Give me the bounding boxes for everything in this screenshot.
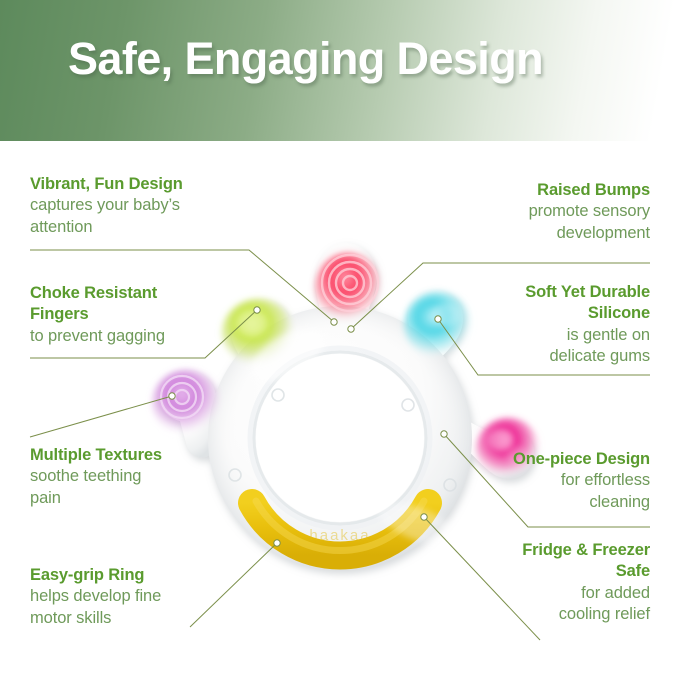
callout-title: Easy-grip Ring <box>30 565 245 586</box>
callout-line-1: promote sensory <box>420 201 650 222</box>
callout-one-piece-design: One-piece Design for effortless cleaning <box>420 449 650 513</box>
callout-soft-yet-durable-silicone: Soft Yet Durable Silicone is gentle on d… <box>420 282 650 368</box>
callout-line-1: is gentle on <box>420 325 650 346</box>
callout-line-2: cleaning <box>420 492 650 513</box>
callout-multiple-textures: Multiple Textures soothe teething pain <box>30 445 245 509</box>
callout-title: Vibrant, Fun Design <box>30 174 245 195</box>
callout-line-1: for effortless <box>420 470 650 491</box>
callout-title-line-1: Choke Resistant <box>30 283 245 304</box>
callout-line-1: for added <box>420 583 650 604</box>
infographic-page: Safe, Engaging Design <box>0 0 679 679</box>
nub-red <box>315 253 381 325</box>
callout-choke-resistant-fingers: Choke Resistant Fingers to prevent gaggi… <box>30 283 245 347</box>
callout-title-line-2: Silicone <box>420 303 650 324</box>
callout-title: Raised Bumps <box>420 180 650 201</box>
callout-title-line-1: Fridge & Freezer <box>420 540 650 561</box>
callout-fridge-freezer-safe: Fridge & Freezer Safe for added cooling … <box>420 540 650 626</box>
callout-raised-bumps: Raised Bumps promote sensory development <box>420 180 650 244</box>
nub-purple <box>152 370 220 436</box>
callout-title: One-piece Design <box>420 449 650 470</box>
callout-easy-grip-ring: Easy-grip Ring helps develop fine motor … <box>30 565 245 629</box>
callout-line-2: development <box>420 223 650 244</box>
callout-line-2: cooling relief <box>420 604 650 625</box>
callout-line-2: motor skills <box>30 608 245 629</box>
callout-line-1: helps develop fine <box>30 586 245 607</box>
callout-line-1: captures your baby’s <box>30 195 245 216</box>
page-title: Safe, Engaging Design <box>68 33 543 85</box>
header-banner: Safe, Engaging Design <box>0 0 679 141</box>
callout-title-line-1: Soft Yet Durable <box>420 282 650 303</box>
callout-line-1: to prevent gagging <box>30 326 245 347</box>
svg-text:haakaa: haakaa <box>309 527 370 544</box>
callout-line-2: pain <box>30 488 245 509</box>
callout-line-1: soothe teething <box>30 466 245 487</box>
callout-line-2: attention <box>30 217 245 238</box>
callout-line-2: delicate gums <box>420 346 650 367</box>
callout-title-line-2: Fingers <box>30 304 245 325</box>
callout-vibrant-fun-design: Vibrant, Fun Design captures your baby’s… <box>30 174 245 238</box>
callout-title-line-2: Safe <box>420 561 650 582</box>
callout-title: Multiple Textures <box>30 445 245 466</box>
